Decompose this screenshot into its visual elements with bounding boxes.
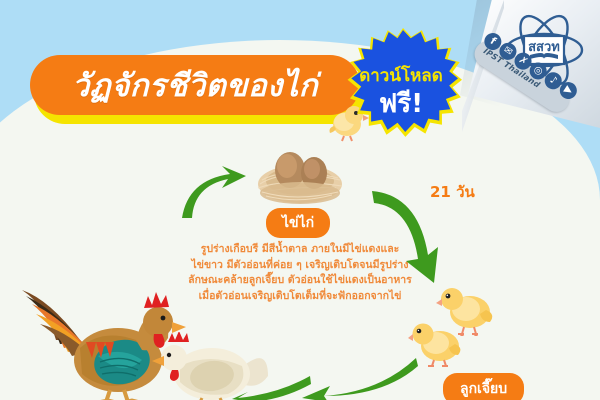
arrow-adult-to-egg-icon (178, 162, 248, 226)
chick-icon-lower (408, 318, 466, 368)
svg-text:สสวท: สสวท (528, 40, 560, 55)
nest-with-eggs-icon (248, 140, 352, 206)
page-title: วัฏจักรชีวิตของไก่ (72, 60, 318, 110)
stage-label-egg: ไข่ไก่ (266, 208, 330, 238)
infographic-canvas: สสวท IPST Thailand f ✉ ✗ ◎ ♪ ▶ วัฏจักรชี… (0, 0, 600, 400)
title-bar: วัฏจักรชีวิตของไก่ (30, 55, 360, 115)
stage-label-chick: ลูกเจี๊ยบ (443, 373, 524, 400)
badge-line-2: ฟรี! (344, 83, 458, 124)
arrow-chick-to-adult-icon (300, 352, 420, 400)
download-free-badge[interactable]: ดาวน์โหลด ฟรี! (344, 28, 464, 140)
hen-icon (150, 332, 270, 400)
